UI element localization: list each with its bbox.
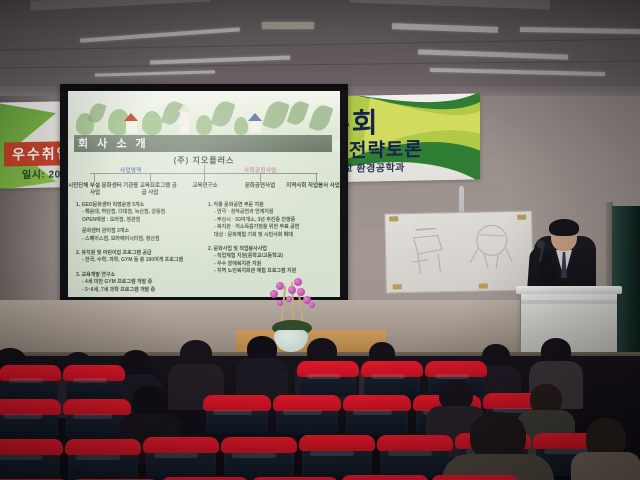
org-connector (260, 173, 261, 182)
bullet-line: - 스페이스점, 모라에어시티점, 정산점 (76, 236, 200, 243)
whiteboard-clip (389, 216, 398, 221)
auditorium-seat[interactable] (302, 440, 372, 478)
leaf-icon (287, 99, 310, 127)
audience-area (0, 356, 640, 480)
auditorium-seat[interactable] (380, 440, 450, 478)
auditorium-seat[interactable] (346, 400, 408, 434)
microphone-icon (537, 240, 545, 249)
leaf-icon (210, 99, 235, 129)
bullet-line: OPEN예정 : 모라점, 정관점 (76, 217, 200, 224)
bullet-line: - 4세 미만 GYM 프로그램 개발 중 (76, 279, 200, 286)
auditorium-seat[interactable] (66, 370, 122, 400)
org-connector (204, 173, 205, 182)
ceiling-light-fixture (80, 27, 240, 42)
org-node: 교육연구소 (178, 183, 232, 190)
bullet-line: - 직업체험 지원(중학교/고등학교) (208, 253, 332, 260)
tree-icon (142, 111, 162, 135)
bullet-line: 대상 : 문화체험 기회 및 시민사회 확대 (208, 232, 332, 239)
orchid-bloom (309, 302, 315, 308)
org-connector (204, 165, 205, 173)
org-group-tag-right: 사회공헌사업 (244, 166, 277, 174)
slide-hero-graphic (68, 91, 340, 139)
bullet-line: 문화센터 관리점 3개소 (76, 228, 200, 235)
bullet-line: - 연극 · 창작공연과 연계지원 (208, 209, 332, 216)
bullet-line: - 5~6세, 7세 과학 프로그램 개발 중 (76, 287, 200, 294)
org-node: 문화공연사업 (233, 183, 287, 190)
auditorium-seat[interactable] (0, 404, 58, 438)
org-connector (316, 173, 317, 182)
org-node: 지역사회 직업봉사 사업 (286, 183, 340, 190)
auditorium-seat[interactable] (2, 370, 58, 400)
auditorium-seat[interactable] (300, 366, 356, 396)
podium-top-surface (516, 286, 622, 294)
leaf-icon (87, 101, 106, 124)
slide-title: 회 사 소 개 (78, 136, 149, 152)
ceiling-vent (262, 22, 314, 29)
orchid-bloom (277, 300, 283, 306)
slide-body: (주) 지오플러스 사업영역 사회공헌사업 시민단체 부설 문화센터 사업 기관… (68, 153, 340, 297)
whiteboard-clip (393, 284, 402, 289)
org-node: 시민단체 부설 문화센터 사업 (68, 183, 122, 197)
auditorium-seat[interactable] (0, 444, 60, 480)
ceiling-light-fixture (418, 49, 568, 59)
ceiling (0, 0, 640, 96)
orchid-bloom (294, 278, 302, 286)
ceiling-seam (0, 61, 640, 69)
orchid-bloom (270, 290, 278, 298)
auditorium-seat[interactable] (224, 442, 294, 480)
ceiling-light-fixture (95, 70, 215, 76)
ceiling-panel (30, 0, 210, 11)
bullet-line: - 지역 노인복지회관 체험 프로그램 지원 (208, 268, 332, 275)
orchid-bloom (286, 296, 292, 302)
bullet-line: - 한국, 수학, 과학, GYM 등 총 100여개 프로그램 (76, 257, 200, 264)
speaker-hair (549, 219, 579, 236)
bullet-line: - 복지관 · 저소득층가정을 위한 무료 공연 (208, 224, 332, 231)
org-connector (94, 173, 95, 182)
org-connector (150, 173, 151, 182)
auditorium-seat[interactable] (146, 442, 216, 480)
auditorium-seat[interactable] (364, 366, 420, 396)
lecture-hall-photo: 200 우수취업 일시: 2009. 수회 취업전략토론 대학교 환경공학과 (0, 0, 640, 480)
ceiling-light-fixture (520, 27, 640, 34)
bullet-line: - 해운대, 하단점, 다대점, 녹산점, 강동점 (76, 209, 200, 216)
whiteboard-clip (479, 283, 488, 288)
house-icon (126, 120, 137, 133)
house-icon (250, 120, 261, 133)
whiteboard-sketch (407, 227, 462, 280)
slide-left-column: 1. GEO문화센터 직영운영 5개소 - 해운대, 하단점, 다대점, 녹산점… (76, 199, 200, 294)
projection-screen: 회 사 소 개 (주) 지오플러스 사업영역 사회공헌사업 시민단체 부설 문화… (60, 84, 348, 306)
ceiling-light-fixture (392, 23, 498, 33)
orchid-bloom (276, 282, 284, 290)
org-node: 기관용 교육프로그램 공급 사업 (123, 183, 177, 197)
orchid-bloom (288, 286, 296, 294)
auditorium-seat[interactable] (276, 400, 338, 434)
screen-top-bar (60, 84, 348, 90)
leaf-icon (308, 103, 333, 133)
ceiling-light-fixture (430, 68, 605, 76)
house-icon (180, 111, 189, 133)
auditorium-seat[interactable] (68, 444, 138, 480)
ceiling-panel (350, 0, 550, 9)
ceiling-light-fixture (150, 56, 290, 65)
slide-right-column: 1. 각종 문화공연 부문 지원 - 연극 · 창작공연과 연계지원 - 부산시… (208, 199, 332, 276)
tree-icon (234, 117, 248, 135)
leaf-icon (262, 99, 290, 132)
tree-icon (196, 115, 212, 135)
whiteboard-clip (517, 215, 526, 220)
org-group-tag-left: 사업영역 (120, 166, 142, 174)
whiteboard-sketch (461, 222, 518, 275)
presentation-slide: 회 사 소 개 (주) 지오플러스 사업영역 사회공헌사업 시민단체 부설 문화… (68, 91, 340, 297)
orchid-bloom (297, 288, 305, 296)
whiteboard (384, 210, 534, 293)
auditorium-seat[interactable] (206, 400, 268, 434)
podium-trim (521, 300, 617, 304)
